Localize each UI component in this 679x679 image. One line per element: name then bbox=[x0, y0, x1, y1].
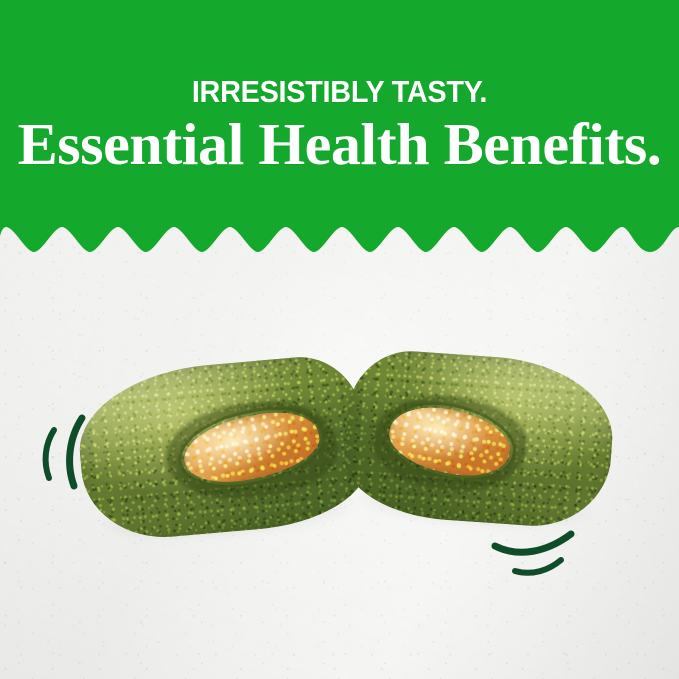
motion-mark-right-group bbox=[485, 518, 585, 580]
motion-mark-left-outer bbox=[70, 418, 82, 486]
banner-text-block: IRRESISTIBLY TASTY. Essential Health Ben… bbox=[0, 0, 679, 174]
banner-kicker: IRRESISTIBLY TASTY. bbox=[24, 76, 655, 107]
treat-left-half bbox=[73, 352, 372, 544]
banner-headline: Essential Health Benefits. bbox=[0, 115, 679, 174]
motion-mark-left-group bbox=[38, 408, 110, 494]
motion-mark-right-inner bbox=[515, 560, 561, 573]
motion-mark-right-outer bbox=[495, 534, 571, 552]
product-marketing-image: IRRESISTIBLY TASTY. Essential Health Ben… bbox=[0, 0, 679, 679]
treat-right-half bbox=[341, 347, 618, 531]
motion-mark-left-inner bbox=[46, 430, 54, 478]
